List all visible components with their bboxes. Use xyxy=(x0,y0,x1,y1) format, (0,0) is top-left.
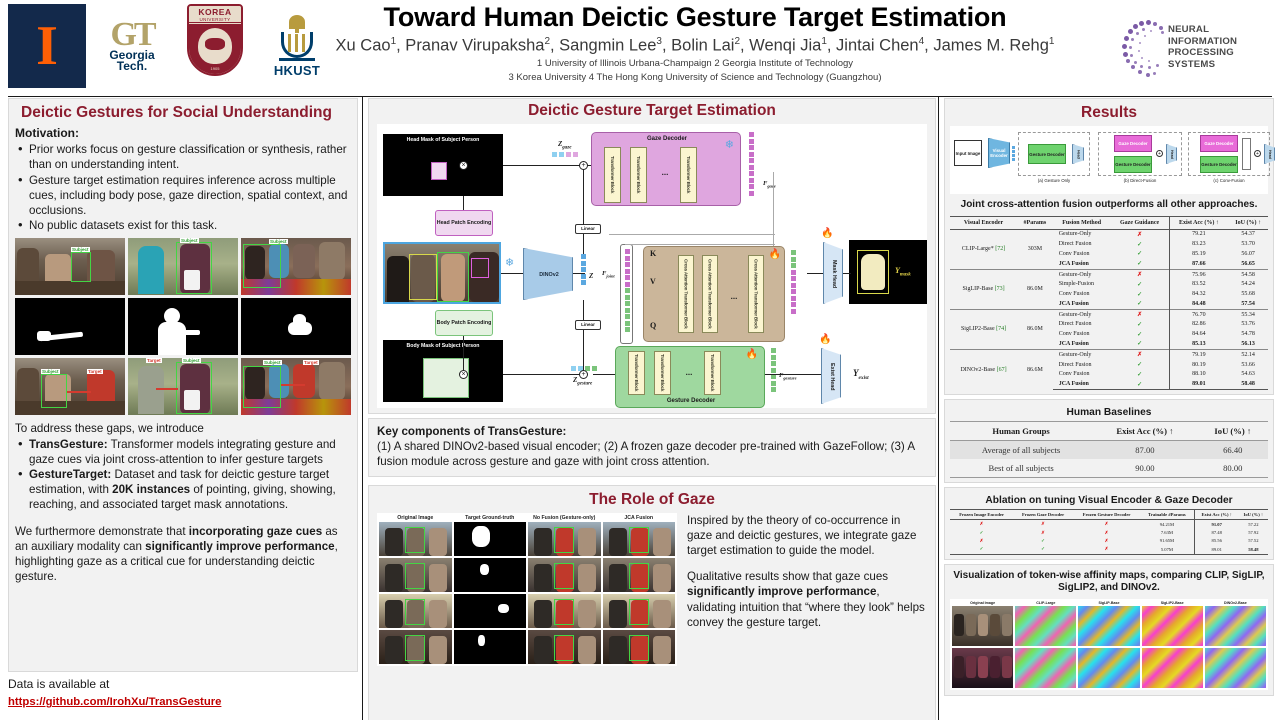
panel-key-components: Key components of TransGesture: (1) A sh… xyxy=(368,418,936,477)
iou-value: 57.54 xyxy=(1228,299,1268,309)
gaze-paragraph-2: Qualitative results show that gaze cues … xyxy=(687,569,927,630)
iou-value: 57.92 xyxy=(1239,528,1268,536)
input-image-box: Input Image xyxy=(954,140,982,166)
gesture-decoder-panel: Gesture Decoder Transformer Block Transf… xyxy=(615,346,765,408)
trainable-params: 94.21M xyxy=(1140,520,1194,529)
check-icon: ✓ xyxy=(950,545,1013,554)
encoder-name: CLIP-Large* [72] xyxy=(950,229,1017,269)
fusion-method: Direct Fusion xyxy=(1053,320,1111,330)
ku-shield-icon: KOREA UNIVERSITY 1905 xyxy=(187,4,243,76)
exist-acc-value: 84.64 xyxy=(1169,329,1228,339)
dataset-examples-grid: Subject Subject Subject xyxy=(15,238,351,415)
example-prediction: Subject Target xyxy=(128,358,238,415)
exist-acc-value: 79.21 xyxy=(1169,229,1228,239)
human-baselines-table: Human GroupsExist Acc (%) ↑IoU (%) ↑ Ave… xyxy=(950,421,1268,478)
table-header-row: Frozen Image EncoderFrozen Gaze DecoderF… xyxy=(950,510,1268,520)
head-patch-encoding-box: Head Patch Encoding xyxy=(435,210,493,236)
target-tag: Target xyxy=(303,360,319,365)
qual-column-header: No Fusion (Gesture-only) xyxy=(528,515,601,521)
column-header: Exist Acc (%) ↑ xyxy=(1092,422,1197,441)
flame-icon: 🔥 xyxy=(821,228,833,239)
multiply-operator: × xyxy=(459,370,468,379)
cross-icon: ✗ xyxy=(1111,269,1169,279)
column-header: IoU (%) ↑ xyxy=(1239,510,1268,520)
fusion-module-panel: Cross Attention Transformer Block Cross … xyxy=(643,246,785,342)
z-gaze-label: Zgaze xyxy=(558,140,571,150)
exist-acc-value: 85.19 xyxy=(1169,249,1228,259)
affinity-map xyxy=(1078,648,1139,688)
variant-caption-b: (b) Direct-Fusion xyxy=(1098,178,1182,183)
cross-icon: ✗ xyxy=(1073,545,1140,554)
list-item: TransGesture: Transformer models integra… xyxy=(15,437,351,467)
params-value: 86.0M xyxy=(1017,309,1053,349)
transformer-block: Transformer Block xyxy=(630,147,647,203)
column-results: Results Input Image Visual Encoder Gestu… xyxy=(944,98,1274,696)
iou-value: 53.76 xyxy=(1228,320,1268,330)
subject-tag: Subject xyxy=(182,358,201,363)
subject-tag: Subject xyxy=(41,369,60,374)
variant-caption-c: (c) Conv-Fusion xyxy=(1188,178,1270,183)
fusion-method: JCA Fusion xyxy=(1053,259,1111,269)
check-icon: ✓ xyxy=(1111,299,1169,309)
iou-value: 56.07 xyxy=(1228,249,1268,259)
jca-fusion-prediction xyxy=(603,558,676,592)
check-icon: ✓ xyxy=(1111,259,1169,269)
exist-acc-value: 76.70 xyxy=(1169,309,1228,319)
exist-acc-value: 87.00 xyxy=(1092,441,1197,460)
cross-icon: ✗ xyxy=(950,520,1013,529)
y-exist-label: Yexist xyxy=(853,368,869,381)
column-header: IoU (%) ↑ xyxy=(1228,216,1268,229)
table-row: ✓✗✗7.63M87.4857.92 xyxy=(950,528,1268,536)
iou-value: 52.14 xyxy=(1228,349,1268,359)
affinity-map xyxy=(1142,648,1203,688)
table-header-row: Visual Encoder#ParamsFusion MethodGaze G… xyxy=(950,216,1268,229)
exist-acc-value: 91.07 xyxy=(1194,520,1239,529)
trainable-params: 5.07M xyxy=(1140,545,1194,554)
list-item: Prior works focus on gesture classificat… xyxy=(15,142,351,172)
column-header: Human Groups xyxy=(950,422,1092,441)
example-image: Subject xyxy=(241,238,351,295)
qual-column-header: Target Ground-truth xyxy=(454,515,527,521)
target-mask xyxy=(454,558,527,592)
check-icon: ✓ xyxy=(1111,369,1169,379)
target-mask xyxy=(454,522,527,556)
v-label: V xyxy=(650,277,656,286)
add-operator: + xyxy=(579,370,588,379)
body-patch-encoding-box: Body Patch Encoding xyxy=(435,310,493,336)
cross-icon: ✗ xyxy=(1013,528,1073,536)
human-group-name: Best of all subjects xyxy=(950,459,1092,478)
check-icon: ✓ xyxy=(1111,249,1169,259)
table-row: ✗✓✗91.65M85.5657.52 xyxy=(950,537,1268,545)
iou-value: 57.22 xyxy=(1239,520,1268,529)
input-image xyxy=(383,242,501,304)
column-header: Fusion Method xyxy=(1053,216,1111,229)
key-components-label: Key components of TransGesture: xyxy=(377,424,927,439)
affiliation-line-1: 1 University of Illinois Urbana-Champaig… xyxy=(290,58,1100,70)
column-header: Visual Encoder xyxy=(950,216,1017,229)
cross-attention-block: Cross Attention Transformer Block xyxy=(702,255,718,333)
column-divider-left xyxy=(362,96,363,720)
cross-icon: ✗ xyxy=(1073,537,1140,545)
head-box: Head xyxy=(1264,144,1275,164)
column-header: #Params xyxy=(1017,216,1053,229)
affinity-map xyxy=(1142,606,1203,646)
panel-affinity-maps: Visualization of token-wise affinity map… xyxy=(944,564,1274,696)
fusion-method: Conv Fusion xyxy=(1053,249,1111,259)
georgia-tech-logo: GT Georgia Tech. xyxy=(92,4,172,88)
jca-fusion-prediction xyxy=(603,522,676,556)
iou-value: 55.68 xyxy=(1228,289,1268,299)
check-icon: ✓ xyxy=(1111,360,1169,370)
cross-icon: ✗ xyxy=(950,537,1013,545)
subject-tag: Subject xyxy=(263,360,282,365)
column-header: Gaze Guidance xyxy=(1111,216,1169,229)
iou-value: 66.40 xyxy=(1198,441,1268,460)
cross-icon: ✗ xyxy=(1111,229,1169,239)
check-icon: ✓ xyxy=(1111,279,1169,289)
column-header: IoU (%) ↑ xyxy=(1198,422,1268,441)
cross-attention-block: Cross Attention Transformer Block xyxy=(678,255,694,333)
transformer-block: Transformer Block xyxy=(628,351,645,395)
head-mask-image: Head Mask of Subject Person xyxy=(383,134,503,196)
gaze-paragraph-1: Inspired by the theory of co-occurrence … xyxy=(687,513,927,559)
subject-tag: Subject xyxy=(269,239,288,244)
korea-university-logo: KOREA UNIVERSITY 1905 xyxy=(178,4,252,88)
motivation-bullets: Prior works focus on gesture classificat… xyxy=(15,142,351,233)
trainable-params: 91.65M xyxy=(1140,537,1194,545)
iou-value: 80.00 xyxy=(1198,459,1268,478)
body-mask-image: Body Mask of Subject Person xyxy=(383,340,503,402)
frozen-snowflake-icon: ❄ xyxy=(505,256,514,269)
column-header: Exist Acc (%) ↑ xyxy=(1169,216,1228,229)
panel-role-of-gaze: The Role of Gaze Original ImageTarget Gr… xyxy=(368,485,936,720)
affinity-column-header: Original Image xyxy=(952,601,1013,605)
github-link[interactable]: https://github.com/IrohXu/TransGesture xyxy=(8,696,221,708)
exist-acc-value: 83.52 xyxy=(1169,279,1228,289)
column-header: Exist Acc (%) ↑ xyxy=(1194,510,1239,520)
motivation-label: Motivation: xyxy=(15,126,351,141)
params-value: 86.0M xyxy=(1017,269,1053,309)
check-icon: ✓ xyxy=(1111,289,1169,299)
check-icon: ✓ xyxy=(1013,545,1073,554)
check-icon: ✓ xyxy=(1111,339,1169,349)
affinity-column-header: SigLIP2-Base xyxy=(1142,601,1203,605)
cross-icon: ✗ xyxy=(1111,349,1169,359)
iou-value: 53.70 xyxy=(1228,239,1268,249)
exist-acc-value: 87.66 xyxy=(1169,259,1228,269)
check-icon: ✓ xyxy=(1013,537,1073,545)
fusion-method: Gesture-Only xyxy=(1053,229,1111,239)
no-fusion-prediction xyxy=(528,522,601,556)
fusion-method: Conv Fusion xyxy=(1053,329,1111,339)
visual-encoder-box: Visual Encoder xyxy=(988,138,1010,168)
affinity-original-image xyxy=(952,606,1013,646)
affinity-map xyxy=(1205,648,1266,688)
params-value: 86.6M xyxy=(1017,349,1053,389)
panel-human-baselines: Human Baselines Human GroupsExist Acc (%… xyxy=(944,399,1274,483)
pipeline-note: Joint cross-attention fusion outperforms… xyxy=(950,194,1268,216)
exist-acc-value: 85.56 xyxy=(1194,537,1239,545)
gt-label-line2: Tech. xyxy=(117,61,147,72)
no-fusion-prediction xyxy=(528,558,601,592)
table-row: Best of all subjects90.0080.00 xyxy=(950,459,1268,478)
affinity-caption: Visualization of token-wise affinity map… xyxy=(950,567,1268,599)
logo-strip: I GT Georgia Tech. KOREA UNIVERSITY 1905… xyxy=(8,4,336,88)
poster-header: I GT Georgia Tech. KOREA UNIVERSITY 1905… xyxy=(0,0,1280,96)
f-gaze-tokens xyxy=(749,132,754,196)
iou-value: 54.58 xyxy=(1228,269,1268,279)
fusion-method: JCA Fusion xyxy=(1053,339,1111,349)
qual-column-header: JCA Fusion xyxy=(603,515,676,521)
fusion-method: Conv Fusion xyxy=(1053,369,1111,379)
cross-icon: ✗ xyxy=(1111,309,1169,319)
column-header: Frozen Gaze Decoder xyxy=(1013,510,1073,520)
table-row: Average of all subjects87.0066.40 xyxy=(950,441,1268,460)
cross-attention-block: Cross Attention Transformer Block xyxy=(748,255,764,333)
exist-acc-value: 84.48 xyxy=(1169,299,1228,309)
neurips-swirl-icon xyxy=(1120,18,1168,76)
panel-results-top: Results Input Image Visual Encoder Gestu… xyxy=(944,98,1274,395)
subject-tag: Subject xyxy=(180,238,199,243)
ku-label-sub: UNIVERSITY xyxy=(189,17,241,22)
encoder-name: SigLIP-Base [73] xyxy=(950,269,1017,309)
cross-icon: ✗ xyxy=(1013,520,1073,529)
exist-acc-value: 85.13 xyxy=(1169,339,1228,349)
neurips-label: NEURAL INFORMATION PROCESSING SYSTEMS xyxy=(1168,24,1275,70)
table-header-row: Human GroupsExist Acc (%) ↑IoU (%) ↑ xyxy=(950,422,1268,441)
section-title-left: Deictic Gestures for Social Understandin… xyxy=(15,101,351,126)
column-header: Frozen Gesture Decoder xyxy=(1073,510,1140,520)
ku-label-year: 1905 xyxy=(189,66,241,71)
neurips-logo: NEURAL INFORMATION PROCESSING SYSTEMS xyxy=(1120,14,1275,80)
exist-acc-value: 89.01 xyxy=(1194,545,1239,554)
gesture-decoder-box: Gesture Decoder xyxy=(1200,156,1238,173)
mask-head-box: Mask Head xyxy=(823,242,843,304)
column-header: Trainable #Params xyxy=(1140,510,1194,520)
cross-icon: ✗ xyxy=(1073,528,1140,536)
flame-icon: 🔥 xyxy=(819,334,831,345)
title-block: Toward Human Deictic Gesture Target Esti… xyxy=(290,2,1100,84)
contribution-bullets: TransGesture: Transformer models integra… xyxy=(15,437,351,513)
panel-deictic-gestures: Deictic Gestures for Social Understandin… xyxy=(8,98,358,672)
iou-value: 54.37 xyxy=(1228,229,1268,239)
fusion-method: Simple-Fusion xyxy=(1053,279,1111,289)
cross-icon: ✗ xyxy=(1073,520,1140,529)
linear-box: Linear xyxy=(575,224,601,234)
architecture-diagram: Head Mask of Subject Person Head Patch E… xyxy=(377,124,927,408)
affinity-map xyxy=(1015,606,1076,646)
affinity-original-image xyxy=(952,648,1013,688)
exist-head-box: Exist Head xyxy=(821,348,841,404)
exist-acc-value: 89.01 xyxy=(1169,379,1228,389)
subject-tag: Subject xyxy=(71,247,90,252)
data-available-label: Data is available at xyxy=(8,677,358,692)
linear-box: Linear xyxy=(575,320,601,330)
qual-column-header: Original Image xyxy=(379,515,452,521)
closing-paragraph: We furthermore demonstrate that incorpor… xyxy=(15,524,351,585)
z-tokens xyxy=(581,254,586,285)
ku-tiger-icon xyxy=(198,28,232,64)
check-icon: ✓ xyxy=(1111,329,1169,339)
params-value: 303M xyxy=(1017,229,1053,269)
section-title-method: Deictic Gesture Target Estimation xyxy=(369,99,935,124)
transformer-block: Transformer Block xyxy=(654,351,671,395)
section-title-results: Results xyxy=(950,101,1268,126)
table-row: SigLIP-Base [73]86.0MGesture-Only✗75.965… xyxy=(950,269,1268,279)
fusion-variants-figure: Input Image Visual Encoder Gesture Decod… xyxy=(950,126,1268,194)
original-image xyxy=(379,522,452,556)
iou-value: 54.24 xyxy=(1228,279,1268,289)
iou-value: 58.48 xyxy=(1228,379,1268,389)
encoder-name: SigLIP2-Base [74] xyxy=(950,309,1017,349)
section-title-gaze: The Role of Gaze xyxy=(377,488,927,513)
iou-value: 58.48 xyxy=(1239,545,1268,554)
add-operator: + xyxy=(579,161,588,170)
uiuc-logo-label: I xyxy=(36,21,58,71)
fusion-method: Conv Fusion xyxy=(1053,289,1111,299)
affinity-map xyxy=(1015,648,1076,688)
author-list: Xu Cao1, Pranav Virupaksha2, Sangmin Lee… xyxy=(290,36,1100,56)
gaze-decoder-box: Gaze Decoder xyxy=(1200,135,1238,152)
gesture-decoder-box: Gesture Decoder xyxy=(1028,144,1066,164)
human-group-name: Average of all subjects xyxy=(950,441,1092,460)
intro-line: To address these gaps, we introduce xyxy=(15,421,351,436)
fusion-method: Direct Fusion xyxy=(1053,239,1111,249)
panel-method: Deictic Gesture Target Estimation Head M… xyxy=(368,98,936,414)
fusion-method: Gesture-Only xyxy=(1053,309,1111,319)
frozen-snowflake-icon: ❄ xyxy=(725,138,734,151)
transformer-block: Transformer Block xyxy=(604,147,621,203)
original-image xyxy=(379,630,452,664)
iou-value: 54.63 xyxy=(1228,369,1268,379)
target-mask xyxy=(241,298,351,355)
gt-monogram: GT xyxy=(110,20,153,50)
key-components-text: (1) A shared DINOv2-based visual encoder… xyxy=(377,439,927,469)
affinity-map xyxy=(1205,606,1266,646)
main-results-table: Visual Encoder#ParamsFusion MethodGaze G… xyxy=(950,216,1268,391)
neurips-label-line1: NEURAL INFORMATION xyxy=(1168,24,1275,47)
list-item: Gesture target estimation requires infer… xyxy=(15,173,351,219)
data-availability: Data is available at https://github.com/… xyxy=(8,677,358,710)
check-icon: ✓ xyxy=(1111,239,1169,249)
affinity-column-header: DINOv2-Base xyxy=(1205,601,1266,605)
column-method: Deictic Gesture Target Estimation Head M… xyxy=(368,98,936,720)
target-mask xyxy=(128,298,238,355)
mask-output-image: Ymask xyxy=(849,240,927,304)
iou-value: 54.78 xyxy=(1228,329,1268,339)
trainable-params: 7.63M xyxy=(1140,528,1194,536)
qualitative-results-grid: Original ImageTarget Ground-truthNo Fusi… xyxy=(377,513,677,666)
check-icon: ✓ xyxy=(1111,320,1169,330)
page-title: Toward Human Deictic Gesture Target Esti… xyxy=(290,2,1100,33)
f-joint-tokens xyxy=(620,244,633,344)
gaze-decoder-box: Gaze Decoder xyxy=(1114,135,1152,152)
target-tag: Target xyxy=(87,369,103,374)
q-label: Q xyxy=(650,321,656,330)
column-header: Frozen Image Encoder xyxy=(950,510,1013,520)
ablation-table: Frozen Image EncoderFrozen Gaze DecoderF… xyxy=(950,509,1268,555)
visual-encoder-box: DINOv2 xyxy=(523,248,573,300)
fusion-method: JCA Fusion xyxy=(1053,379,1111,389)
gesture-decoder-box: Gesture Decoder xyxy=(1114,156,1152,173)
header-divider xyxy=(8,96,1272,97)
jca-fusion-prediction xyxy=(603,594,676,628)
y-mask-label: Ymask xyxy=(895,266,911,278)
ablation-caption: Ablation on tuning Visual Encoder & Gaze… xyxy=(950,490,1268,509)
table-row: ✓✓✗5.07M89.0158.48 xyxy=(950,545,1268,554)
affiliation-line-2: 3 Korea University 4 The Hong Kong Unive… xyxy=(290,72,1100,84)
exist-acc-value: 90.00 xyxy=(1092,459,1197,478)
example-prediction: Subject Target xyxy=(15,358,125,415)
jca-fusion-prediction xyxy=(603,630,676,664)
transformer-block: Transformer Block xyxy=(680,147,697,203)
iou-value: 56.65 xyxy=(1228,259,1268,269)
uiuc-logo: I xyxy=(8,4,86,88)
fusion-output-tokens xyxy=(791,250,796,314)
exist-acc-value: 87.48 xyxy=(1194,528,1239,536)
table-row: CLIP-Large* [72]303MGesture-Only✗79.2154… xyxy=(950,229,1268,239)
encoder-name: DINOv2-Base [67] xyxy=(950,349,1017,389)
fusion-method: Direct Fusion xyxy=(1053,360,1111,370)
no-fusion-prediction xyxy=(528,630,601,664)
gaze-decoder-panel: Gaze Decoder Transformer Block Transform… xyxy=(591,132,741,206)
exist-acc-value: 88.10 xyxy=(1169,369,1228,379)
table-row: DINOv2-Base [67]86.6MGesture-Only✗79.195… xyxy=(950,349,1268,359)
example-image: Subject xyxy=(128,238,238,295)
affinity-map xyxy=(1078,606,1139,646)
f-gesture-tokens xyxy=(771,348,776,392)
example-prediction: Subject Target xyxy=(241,358,351,415)
exist-acc-value: 83.23 xyxy=(1169,239,1228,249)
exist-acc-value: 84.32 xyxy=(1169,289,1228,299)
original-image xyxy=(379,558,452,592)
column-divider-right xyxy=(938,96,939,720)
list-item: No public datasets exist for this task. xyxy=(15,218,351,233)
iou-value: 55.34 xyxy=(1228,309,1268,319)
z-gaze-tokens xyxy=(552,152,578,157)
fusion-method: Gesture-Only xyxy=(1053,269,1111,279)
z-label: Z xyxy=(589,272,593,280)
target-tag: Target xyxy=(146,358,162,363)
target-mask xyxy=(15,298,125,355)
table-row: SigLIP2-Base [74]86.0MGesture-Only✗76.70… xyxy=(950,309,1268,319)
exist-acc-value: 79.19 xyxy=(1169,349,1228,359)
target-mask xyxy=(454,594,527,628)
example-image: Subject xyxy=(15,238,125,295)
flame-icon: 🔥 xyxy=(769,249,781,260)
no-fusion-prediction xyxy=(528,594,601,628)
affinity-column-header: CLIP-Large xyxy=(1015,601,1076,605)
neurips-label-line2: PROCESSING SYSTEMS xyxy=(1168,47,1275,70)
target-mask xyxy=(454,630,527,664)
exist-acc-value: 75.96 xyxy=(1169,269,1228,279)
check-icon: ✓ xyxy=(950,528,1013,536)
exist-acc-value: 82.86 xyxy=(1169,320,1228,330)
human-baselines-caption: Human Baselines xyxy=(950,402,1268,421)
panel-ablation: Ablation on tuning Visual Encoder & Gaze… xyxy=(944,487,1274,560)
list-item: GestureTarget: Dataset and task for deic… xyxy=(15,467,351,513)
variant-caption-a: (a) Gesture Only xyxy=(1018,178,1090,183)
k-label: K xyxy=(650,249,656,258)
f-joint-label: Fjoint xyxy=(602,270,615,278)
check-icon: ✓ xyxy=(1111,379,1169,389)
original-image xyxy=(379,594,452,628)
exist-acc-value: 80.19 xyxy=(1169,360,1228,370)
fusion-method: Gesture-Only xyxy=(1053,349,1111,359)
multiply-operator: × xyxy=(459,161,468,170)
